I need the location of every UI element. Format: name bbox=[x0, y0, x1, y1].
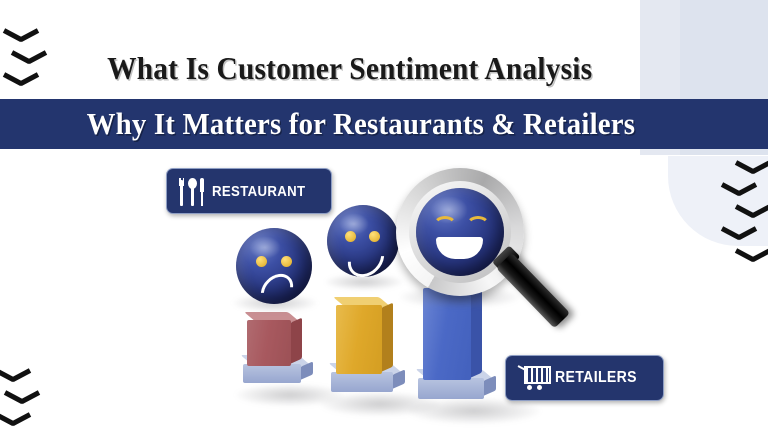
magnifier-lens bbox=[416, 188, 504, 276]
chevron-icon bbox=[736, 204, 768, 221]
chevron-icon bbox=[0, 368, 30, 385]
bar-side bbox=[382, 303, 393, 372]
bar-face bbox=[247, 320, 291, 366]
magnifying-glass-icon bbox=[396, 168, 524, 296]
page-title: What Is Customer Sentiment Analysis bbox=[107, 50, 592, 87]
sentiment-face-sad bbox=[236, 228, 312, 304]
eye-right-arc-icon bbox=[466, 216, 490, 236]
chevron-icon bbox=[736, 248, 768, 265]
chevron-icon bbox=[722, 226, 756, 243]
shopping-cart-icon bbox=[518, 365, 548, 391]
bar-negative bbox=[247, 320, 291, 366]
magnifier-handle bbox=[496, 253, 570, 329]
subtitle-text: Why It Matters for Restaurants & Retaile… bbox=[87, 106, 636, 142]
eye-left-icon bbox=[345, 231, 356, 242]
eye-left-icon bbox=[256, 256, 267, 267]
eye-left-arc-icon bbox=[433, 216, 457, 236]
chevron-icon bbox=[736, 160, 768, 177]
cutlery-icon bbox=[178, 176, 205, 206]
chevron-icon bbox=[722, 182, 756, 199]
bar-base bbox=[418, 378, 484, 399]
bar-side bbox=[291, 318, 302, 364]
bar-neutral bbox=[336, 305, 382, 374]
subtitle-banner: Why It Matters for Restaurants & Retaile… bbox=[0, 99, 768, 149]
chevron-icon bbox=[0, 412, 30, 429]
bar-base-face bbox=[418, 378, 484, 399]
sentiment-face-neutral bbox=[327, 205, 399, 277]
face-gloss bbox=[249, 236, 281, 259]
bar-base bbox=[331, 372, 393, 392]
badge-restaurant[interactable]: RESTAURANT bbox=[166, 168, 332, 214]
infographic-canvas: What Is Customer Sentiment Analysis Why … bbox=[0, 0, 768, 432]
face-gloss bbox=[339, 213, 369, 235]
badge-retailers-label: RETAILERS bbox=[555, 369, 637, 387]
chevron-icon bbox=[5, 390, 39, 407]
bar-base bbox=[243, 364, 301, 383]
bar-shadow bbox=[408, 398, 540, 424]
sentiment-face-happy bbox=[416, 188, 504, 276]
page-title-container: What Is Customer Sentiment Analysis bbox=[0, 42, 700, 94]
bar-base-face bbox=[331, 372, 393, 392]
badge-retailers[interactable]: RETAILERS bbox=[505, 355, 664, 401]
badge-restaurant-label: RESTAURANT bbox=[212, 183, 305, 200]
bar-face bbox=[336, 305, 382, 374]
mouth-laugh-icon bbox=[436, 237, 483, 259]
bar-base-face bbox=[243, 364, 301, 383]
eye-right-icon bbox=[281, 256, 292, 267]
